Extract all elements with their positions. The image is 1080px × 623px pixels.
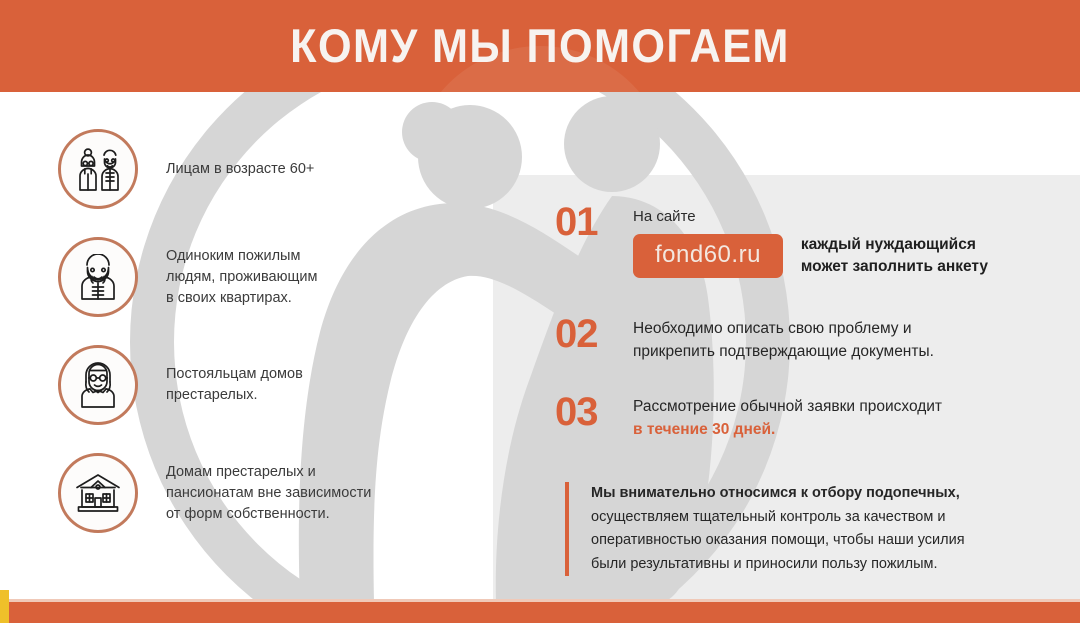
step-content: На сайте fond60.ru каждый нуждающийся мо… — [633, 202, 988, 278]
step-line: может заполнить анкету — [801, 256, 988, 278]
list-item-label: Лицам в возрасте 60+ — [166, 159, 314, 180]
elderly-couple-icon — [58, 129, 138, 209]
step-line: прикрепить подтверждающие документы. — [633, 340, 934, 363]
list-item-line: в своих квартирах. — [166, 288, 317, 309]
infographic-page: КОМУ МЫ ПОМОГАЕМ — [0, 0, 1080, 623]
list-item: Домам престарелых и пансионатам вне зави… — [58, 453, 371, 533]
list-item-line: Домам престарелых и — [166, 462, 371, 483]
list-item-line: Постояльцам домов — [166, 364, 303, 385]
footer-bar — [0, 602, 1080, 623]
list-item: Одиноким пожилым людям, проживающим в св… — [58, 237, 317, 317]
step-lead-text: На сайте — [633, 205, 988, 228]
audience-list: Лицам в возрасте 60+ — [0, 92, 470, 602]
elderly-man-icon — [58, 237, 138, 317]
list-item-line: Лицам в возрасте 60+ — [166, 159, 314, 180]
site-badge-row: fond60.ru каждый нуждающийся может запол… — [633, 234, 988, 278]
list-item-label: Одиноким пожилым людям, проживающим в св… — [166, 246, 317, 309]
step-02: 02 Необходимо описать свою проблему и пр… — [555, 314, 934, 363]
step-number: 02 — [555, 314, 633, 354]
step-content: Необходимо описать свою проблему и прикр… — [633, 314, 934, 363]
selection-policy-note: Мы внимательно относимся к отбору подопе… — [565, 482, 1061, 576]
step-03: 03 Рассмотрение обычной заявки происходи… — [555, 392, 942, 441]
note-line: оперативностью оказания помощи, чтобы на… — [591, 529, 1061, 553]
list-item: Постояльцам домов престарелых. — [58, 345, 303, 425]
step-number: 03 — [555, 392, 633, 432]
elderly-woman-icon — [58, 345, 138, 425]
note-bold-line: Мы внимательно относимся к отбору подопе… — [591, 482, 1061, 506]
note-line: осуществляем тщательный контроль за каче… — [591, 506, 1061, 530]
website-badge[interactable]: fond60.ru — [633, 234, 783, 278]
footer-accent-mark — [0, 590, 9, 623]
list-item-line: Одиноким пожилым — [166, 246, 317, 267]
nursing-home-icon — [58, 453, 138, 533]
list-item-label: Домам престарелых и пансионатам вне зави… — [166, 462, 371, 525]
note-line: были результативны и приносили пользу по… — [591, 553, 1061, 577]
step-line: каждый нуждающийся — [801, 234, 988, 256]
header-banner: КОМУ МЫ ПОМОГАЕМ — [0, 0, 1080, 92]
list-item-line: людям, проживающим — [166, 267, 317, 288]
steps-list: 01 На сайте fond60.ru каждый нуждающийся… — [493, 92, 1080, 602]
step-line: Необходимо описать свою проблему и — [633, 317, 934, 340]
step-accent-line: в течение 30 дней. — [633, 418, 942, 441]
step-line: Рассмотрение обычной заявки происходит — [633, 395, 942, 418]
step-01: 01 На сайте fond60.ru каждый нуждающийся… — [555, 202, 988, 278]
step-number: 01 — [555, 202, 633, 242]
list-item: Лицам в возрасте 60+ — [58, 129, 314, 209]
list-item-label: Постояльцам домов престарелых. — [166, 364, 303, 406]
list-item-line: от форм собственности. — [166, 504, 371, 525]
list-item-line: престарелых. — [166, 385, 303, 406]
step-content: Рассмотрение обычной заявки происходит в… — [633, 392, 942, 441]
page-title: КОМУ МЫ ПОМОГАЕМ — [43, 17, 1037, 75]
list-item-line: пансионатам вне зависимости — [166, 483, 371, 504]
step-after-badge-text: каждый нуждающийся может заполнить анкет… — [801, 234, 988, 278]
